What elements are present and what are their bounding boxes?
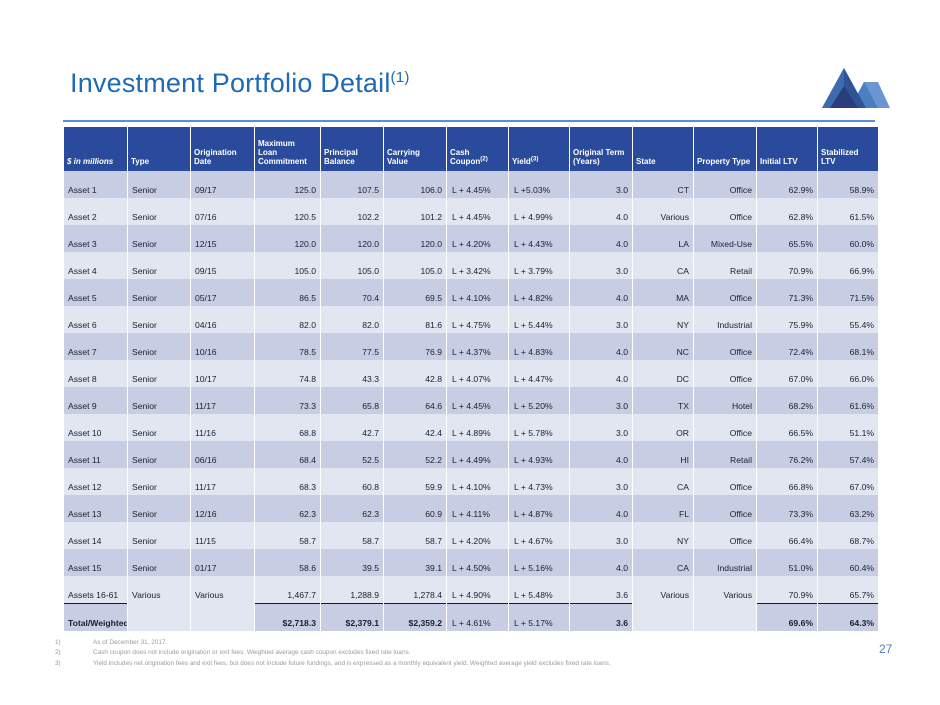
- total-cell-cash-coupon: L + 4.61%: [447, 603, 508, 631]
- cell-stabilized-ltv: 51.1%: [818, 414, 878, 441]
- cell-original-term: 3.6: [570, 576, 632, 603]
- cell-name: Assets 16-61: [64, 576, 127, 603]
- table-row: Asset 3Senior12/15120.0120.0120.0L + 4.2…: [64, 225, 878, 252]
- cell-original-term: 3.0: [570, 252, 632, 279]
- cell-carrying-value: 81.6: [384, 306, 446, 333]
- cell-state: NY: [633, 522, 693, 549]
- cell-state: CA: [633, 468, 693, 495]
- cell-stabilized-ltv: 60.4%: [818, 549, 878, 576]
- cell-stabilized-ltv: 55.4%: [818, 306, 878, 333]
- cell-yield: L + 5.78%: [509, 414, 569, 441]
- cell-cash-coupon: L + 4.07%: [447, 360, 508, 387]
- cell-type: Senior: [128, 495, 190, 522]
- cell-stabilized-ltv: 63.2%: [818, 495, 878, 522]
- cell-state: FL: [633, 495, 693, 522]
- cell-type: Senior: [128, 198, 190, 225]
- cell-yield: L + 4.73%: [509, 468, 569, 495]
- table-row: Asset 7Senior10/1678.577.576.9L + 4.37%L…: [64, 333, 878, 360]
- cell-max-loan-commitment: 125.0: [255, 171, 320, 198]
- header-principal-balance: Principal Balance: [321, 127, 383, 171]
- header-carrying-value: Carrying Value: [384, 127, 446, 171]
- cell-state: CA: [633, 252, 693, 279]
- cell-origination-date: 04/16: [191, 306, 254, 333]
- cell-stabilized-ltv: 66.0%: [818, 360, 878, 387]
- cell-name: Asset 10: [64, 414, 127, 441]
- table-row: Asset 11Senior06/1668.452.552.2L + 4.49%…: [64, 441, 878, 468]
- table-row: Asset 12Senior11/1768.360.859.9L + 4.10%…: [64, 468, 878, 495]
- cell-stabilized-ltv: 65.7%: [818, 576, 878, 603]
- cell-original-term: 3.0: [570, 387, 632, 414]
- cell-max-loan-commitment: 58.7: [255, 522, 320, 549]
- cell-property-type: Office: [694, 468, 756, 495]
- cell-origination-date: 05/17: [191, 279, 254, 306]
- cell-property-type: Office: [694, 522, 756, 549]
- cell-origination-date: 09/15: [191, 252, 254, 279]
- cell-name: Asset 13: [64, 495, 127, 522]
- cell-original-term: 3.0: [570, 171, 632, 198]
- cell-origination-date: 11/15: [191, 522, 254, 549]
- table-row: Asset 10Senior11/1668.842.742.4L + 4.89%…: [64, 414, 878, 441]
- cell-state: OR: [633, 414, 693, 441]
- cell-origination-date: 10/16: [191, 333, 254, 360]
- cell-original-term: 4.0: [570, 279, 632, 306]
- cell-carrying-value: 60.9: [384, 495, 446, 522]
- cell-principal-balance: 52.5: [321, 441, 383, 468]
- cell-name: Asset 5: [64, 279, 127, 306]
- cell-cash-coupon: L + 4.45%: [447, 171, 508, 198]
- cell-stabilized-ltv: 68.7%: [818, 522, 878, 549]
- cell-property-type: Office: [694, 279, 756, 306]
- cell-original-term: 4.0: [570, 549, 632, 576]
- footnote-number: 2): [55, 648, 93, 658]
- total-cell-principal-balance: $2,379.1: [321, 603, 383, 631]
- header-line: Value: [387, 157, 408, 166]
- total-cell-original-term: 3.6: [570, 603, 632, 631]
- cell-carrying-value: 105.0: [384, 252, 446, 279]
- cell-property-type: Mixed-Use: [694, 225, 756, 252]
- cell-max-loan-commitment: 68.8: [255, 414, 320, 441]
- cell-initial-ltv: 66.5%: [757, 414, 817, 441]
- cell-name: Asset 8: [64, 360, 127, 387]
- cell-yield: L + 4.43%: [509, 225, 569, 252]
- cell-type: Senior: [128, 441, 190, 468]
- cell-principal-balance: 107.5: [321, 171, 383, 198]
- cell-principal-balance: 60.8: [321, 468, 383, 495]
- footnote-text: As of December 31, 2017.: [93, 638, 611, 648]
- total-cell-yield: L + 5.17%: [509, 603, 569, 631]
- cell-cash-coupon: L + 4.11%: [447, 495, 508, 522]
- header-initial-ltv: Initial LTV: [757, 127, 817, 171]
- cell-carrying-value: 58.7: [384, 522, 446, 549]
- cell-origination-date: 10/17: [191, 360, 254, 387]
- header-line: Commitment: [258, 157, 307, 166]
- cell-cash-coupon: L + 4.37%: [447, 333, 508, 360]
- table-header-row: $ in millions Type Origination Date Maxi…: [64, 127, 878, 171]
- table-row: Asset 9Senior11/1773.365.864.6L + 4.45%L…: [64, 387, 878, 414]
- cell-property-type: Office: [694, 495, 756, 522]
- cell-yield: L + 5.48%: [509, 576, 569, 603]
- cell-origination-date: 06/16: [191, 441, 254, 468]
- cell-yield: L + 4.47%: [509, 360, 569, 387]
- cell-principal-balance: 82.0: [321, 306, 383, 333]
- header-line: Stabilized: [821, 148, 858, 157]
- cell-cash-coupon: L + 4.10%: [447, 468, 508, 495]
- cell-carrying-value: 52.2: [384, 441, 446, 468]
- cell-property-type: Various: [694, 576, 756, 603]
- cell-name: Asset 9: [64, 387, 127, 414]
- cell-max-loan-commitment: 62.3: [255, 495, 320, 522]
- header-line: Loan: [258, 148, 277, 157]
- cell-yield: L +5.03%: [509, 171, 569, 198]
- cell-cash-coupon: L + 4.89%: [447, 414, 508, 441]
- cell-property-type: Office: [694, 171, 756, 198]
- table-row: Asset 6Senior04/1682.082.081.6L + 4.75%L…: [64, 306, 878, 333]
- cell-type: Senior: [128, 171, 190, 198]
- cell-carrying-value: 42.8: [384, 360, 446, 387]
- cell-state: Various: [633, 576, 693, 603]
- cell-property-type: Hotel: [694, 387, 756, 414]
- cell-origination-date: 01/17: [191, 549, 254, 576]
- cell-yield: L + 4.67%: [509, 522, 569, 549]
- header-yield: Yield(3): [509, 127, 569, 171]
- table-row: Asset 13Senior12/1662.362.360.9L + 4.11%…: [64, 495, 878, 522]
- total-cell-carrying-value: $2,359.2: [384, 603, 446, 631]
- footnote-item: 1)As of December 31, 2017.: [55, 638, 611, 648]
- cell-stabilized-ltv: 58.9%: [818, 171, 878, 198]
- cell-carrying-value: 120.0: [384, 225, 446, 252]
- table-row: Asset 2Senior07/16120.5102.2101.2L + 4.4…: [64, 198, 878, 225]
- cell-original-term: 4.0: [570, 360, 632, 387]
- cell-type: Senior: [128, 387, 190, 414]
- cell-stabilized-ltv: 66.9%: [818, 252, 878, 279]
- header-line: Cash: [450, 148, 470, 157]
- cell-max-loan-commitment: 120.5: [255, 198, 320, 225]
- cell-type: Senior: [128, 468, 190, 495]
- cell-type: Senior: [128, 549, 190, 576]
- cell-property-type: Office: [694, 360, 756, 387]
- header-line: Yield: [512, 157, 531, 166]
- cell-carrying-value: 76.9: [384, 333, 446, 360]
- page-title: Investment Portfolio Detail(1): [70, 68, 410, 99]
- cell-origination-date: 11/17: [191, 468, 254, 495]
- table-row: Asset 1Senior09/17125.0107.5106.0L + 4.4…: [64, 171, 878, 198]
- table-body: Asset 1Senior09/17125.0107.5106.0L + 4.4…: [64, 171, 878, 631]
- total-cell-stabilized-ltv: 64.3%: [818, 603, 878, 631]
- investment-portfolio-table: $ in millions Type Origination Date Maxi…: [63, 127, 879, 631]
- cell-state: CA: [633, 549, 693, 576]
- cell-yield: L + 5.44%: [509, 306, 569, 333]
- cell-initial-ltv: 75.9%: [757, 306, 817, 333]
- header-maximum-loan-commitment: Maximum Loan Commitment: [255, 127, 320, 171]
- footnote-number: 3): [55, 659, 93, 669]
- cell-max-loan-commitment: 78.5: [255, 333, 320, 360]
- cell-name: Asset 15: [64, 549, 127, 576]
- header-state: State: [633, 127, 693, 171]
- cell-origination-date: 07/16: [191, 198, 254, 225]
- table-row: Asset 5Senior05/1786.570.469.5L + 4.10%L…: [64, 279, 878, 306]
- cell-original-term: 3.0: [570, 522, 632, 549]
- table-row-subtotal: Assets 16-61VariousVarious1,467.71,288.9…: [64, 576, 878, 603]
- cell-cash-coupon: L + 4.75%: [447, 306, 508, 333]
- cell-principal-balance: 58.7: [321, 522, 383, 549]
- cell-initial-ltv: 70.9%: [757, 576, 817, 603]
- cell-stabilized-ltv: 61.5%: [818, 198, 878, 225]
- cell-type: Senior: [128, 225, 190, 252]
- header-line: (Years): [573, 157, 600, 166]
- cell-original-term: 3.0: [570, 306, 632, 333]
- cell-initial-ltv: 66.8%: [757, 468, 817, 495]
- header-type: Type: [128, 127, 190, 171]
- cell-origination-date: Various: [191, 576, 254, 603]
- cell-yield: L + 5.16%: [509, 549, 569, 576]
- cell-property-type: Retail: [694, 252, 756, 279]
- cell-state: NY: [633, 306, 693, 333]
- header-line: LTV: [821, 157, 836, 166]
- cell-max-loan-commitment: 68.4: [255, 441, 320, 468]
- cell-carrying-value: 39.1: [384, 549, 446, 576]
- cell-carrying-value: 42.4: [384, 414, 446, 441]
- cell-yield: L + 5.20%: [509, 387, 569, 414]
- cell-type: Senior: [128, 522, 190, 549]
- cell-origination-date: 12/16: [191, 495, 254, 522]
- cell-initial-ltv: 67.0%: [757, 360, 817, 387]
- cell-type: Senior: [128, 333, 190, 360]
- cell-cash-coupon: L + 4.20%: [447, 522, 508, 549]
- cell-original-term: 4.0: [570, 441, 632, 468]
- header-property-type: Property Type: [694, 127, 756, 171]
- cell-state: NC: [633, 333, 693, 360]
- header-accent-rule: [63, 120, 875, 122]
- header-line: Original Term: [573, 148, 624, 157]
- total-cell-initial-ltv: 69.6%: [757, 603, 817, 631]
- cell-type: Various: [128, 576, 190, 603]
- cell-max-loan-commitment: 82.0: [255, 306, 320, 333]
- cell-original-term: 4.0: [570, 225, 632, 252]
- cell-name: Asset 1: [64, 171, 127, 198]
- header-unit: $ in millions: [64, 127, 127, 171]
- cell-origination-date: 11/17: [191, 387, 254, 414]
- cell-carrying-value: 101.2: [384, 198, 446, 225]
- header-original-term: Original Term (Years): [570, 127, 632, 171]
- total-cell-state: [633, 603, 693, 631]
- cell-cash-coupon: L + 4.45%: [447, 198, 508, 225]
- cell-max-loan-commitment: 86.5: [255, 279, 320, 306]
- table-row: Asset 4Senior09/15105.0105.0105.0L + 3.4…: [64, 252, 878, 279]
- cell-principal-balance: 39.5: [321, 549, 383, 576]
- cell-max-loan-commitment: 58.6: [255, 549, 320, 576]
- footnotes: 1)As of December 31, 2017.2)Cash coupon …: [55, 638, 611, 669]
- cell-yield: L + 4.87%: [509, 495, 569, 522]
- cell-origination-date: 09/17: [191, 171, 254, 198]
- cell-state: LA: [633, 225, 693, 252]
- cell-property-type: Industrial: [694, 306, 756, 333]
- cell-property-type: Industrial: [694, 549, 756, 576]
- cell-cash-coupon: L + 4.20%: [447, 225, 508, 252]
- cell-max-loan-commitment: 74.8: [255, 360, 320, 387]
- cell-yield: L + 4.99%: [509, 198, 569, 225]
- cell-property-type: Retail: [694, 441, 756, 468]
- cell-initial-ltv: 66.4%: [757, 522, 817, 549]
- cell-principal-balance: 70.4: [321, 279, 383, 306]
- cell-initial-ltv: 65.5%: [757, 225, 817, 252]
- cell-principal-balance: 62.3: [321, 495, 383, 522]
- cell-name: Asset 6: [64, 306, 127, 333]
- cell-initial-ltv: 62.9%: [757, 171, 817, 198]
- cell-original-term: 4.0: [570, 198, 632, 225]
- cell-yield: L + 4.83%: [509, 333, 569, 360]
- mountain-logo: [818, 60, 890, 112]
- page-title-superscript: (1): [391, 69, 410, 86]
- cell-initial-ltv: 73.3%: [757, 495, 817, 522]
- cell-carrying-value: 59.9: [384, 468, 446, 495]
- cell-initial-ltv: 70.9%: [757, 252, 817, 279]
- header-line: Balance: [324, 157, 355, 166]
- cell-max-loan-commitment: 105.0: [255, 252, 320, 279]
- cell-initial-ltv: 76.2%: [757, 441, 817, 468]
- cell-yield: L + 3.79%: [509, 252, 569, 279]
- cell-stabilized-ltv: 57.4%: [818, 441, 878, 468]
- cell-principal-balance: 43.3: [321, 360, 383, 387]
- header-line: Coupon: [450, 157, 480, 166]
- table-row-total: Total/Weighted Average$2,718.3$2,379.1$2…: [64, 603, 878, 631]
- cell-state: HI: [633, 441, 693, 468]
- cell-type: Senior: [128, 360, 190, 387]
- cell-stabilized-ltv: 61.6%: [818, 387, 878, 414]
- footnote-text: Cash coupon does not include origination…: [93, 648, 611, 658]
- cell-type: Senior: [128, 414, 190, 441]
- cell-name: Asset 4: [64, 252, 127, 279]
- cell-max-loan-commitment: 68.3: [255, 468, 320, 495]
- cell-name: Asset 7: [64, 333, 127, 360]
- cell-original-term: 4.0: [570, 495, 632, 522]
- header-cash-coupon: Cash Coupon(2): [447, 127, 508, 171]
- cell-name: Asset 11: [64, 441, 127, 468]
- cell-principal-balance: 120.0: [321, 225, 383, 252]
- cell-principal-balance: 105.0: [321, 252, 383, 279]
- cell-stabilized-ltv: 71.5%: [818, 279, 878, 306]
- cell-carrying-value: 64.6: [384, 387, 446, 414]
- cell-state: TX: [633, 387, 693, 414]
- cell-max-loan-commitment: 1,467.7: [255, 576, 320, 603]
- cell-state: MA: [633, 279, 693, 306]
- cell-name: Asset 3: [64, 225, 127, 252]
- cell-max-loan-commitment: 120.0: [255, 225, 320, 252]
- cell-max-loan-commitment: 73.3: [255, 387, 320, 414]
- cell-original-term: 3.0: [570, 468, 632, 495]
- cell-name: Asset 12: [64, 468, 127, 495]
- cell-state: DC: [633, 360, 693, 387]
- cell-carrying-value: 69.5: [384, 279, 446, 306]
- footnote-item: 3)Yield includes net origination fees an…: [55, 659, 611, 669]
- total-cell-max-loan-commitment: $2,718.3: [255, 603, 320, 631]
- cell-yield: L + 4.82%: [509, 279, 569, 306]
- table-row: Asset 14Senior11/1558.758.758.7L + 4.20%…: [64, 522, 878, 549]
- cell-stabilized-ltv: 60.0%: [818, 225, 878, 252]
- cell-initial-ltv: 71.3%: [757, 279, 817, 306]
- cell-initial-ltv: 51.0%: [757, 549, 817, 576]
- cell-cash-coupon: L + 4.45%: [447, 387, 508, 414]
- cell-property-type: Office: [694, 333, 756, 360]
- cell-principal-balance: 102.2: [321, 198, 383, 225]
- cell-type: Senior: [128, 306, 190, 333]
- cell-cash-coupon: L + 3.42%: [447, 252, 508, 279]
- header-origination-date: Origination Date: [191, 127, 254, 171]
- header-superscript: (3): [531, 155, 539, 162]
- cell-cash-coupon: L + 4.49%: [447, 441, 508, 468]
- cell-carrying-value: 106.0: [384, 171, 446, 198]
- cell-name: Asset 14: [64, 522, 127, 549]
- cell-principal-balance: 65.8: [321, 387, 383, 414]
- cell-initial-ltv: 62.8%: [757, 198, 817, 225]
- cell-origination-date: 12/15: [191, 225, 254, 252]
- cell-carrying-value: 1,278.4: [384, 576, 446, 603]
- page-title-text: Investment Portfolio Detail: [70, 68, 391, 98]
- cell-cash-coupon: L + 4.10%: [447, 279, 508, 306]
- footnote-text: Yield includes net origination fees and …: [93, 659, 611, 669]
- cell-cash-coupon: L + 4.90%: [447, 576, 508, 603]
- cell-cash-coupon: L + 4.50%: [447, 549, 508, 576]
- cell-original-term: 3.0: [570, 414, 632, 441]
- table-row: Asset 8Senior10/1774.843.342.8L + 4.07%L…: [64, 360, 878, 387]
- total-cell-type: [128, 603, 190, 631]
- cell-type: Senior: [128, 279, 190, 306]
- total-cell-origination-date: [191, 603, 254, 631]
- total-cell-name: Total/Weighted Average: [64, 603, 127, 631]
- cell-name: Asset 2: [64, 198, 127, 225]
- cell-yield: L + 4.93%: [509, 441, 569, 468]
- cell-property-type: Office: [694, 414, 756, 441]
- cell-principal-balance: 77.5: [321, 333, 383, 360]
- header-line: Carrying: [387, 148, 420, 157]
- footnote-item: 2)Cash coupon does not include originati…: [55, 648, 611, 658]
- header-stabilized-ltv: Stabilized LTV: [818, 127, 878, 171]
- header-line: Maximum: [258, 139, 295, 148]
- header-line: Origination: [194, 148, 237, 157]
- header-line: Principal: [324, 148, 358, 157]
- header-line: Date: [194, 157, 211, 166]
- footnote-number: 1): [55, 638, 93, 648]
- cell-original-term: 4.0: [570, 333, 632, 360]
- cell-stabilized-ltv: 68.1%: [818, 333, 878, 360]
- cell-property-type: Office: [694, 198, 756, 225]
- cell-initial-ltv: 68.2%: [757, 387, 817, 414]
- cell-initial-ltv: 72.4%: [757, 333, 817, 360]
- table-row: Asset 15Senior01/1758.639.539.1L + 4.50%…: [64, 549, 878, 576]
- cell-stabilized-ltv: 67.0%: [818, 468, 878, 495]
- page-number: 27: [879, 642, 892, 656]
- total-cell-property-type: [694, 603, 756, 631]
- cell-principal-balance: 1,288.9: [321, 576, 383, 603]
- cell-state: CT: [633, 171, 693, 198]
- cell-state: Various: [633, 198, 693, 225]
- cell-principal-balance: 42.7: [321, 414, 383, 441]
- header-superscript: (2): [480, 155, 488, 162]
- cell-origination-date: 11/16: [191, 414, 254, 441]
- cell-type: Senior: [128, 252, 190, 279]
